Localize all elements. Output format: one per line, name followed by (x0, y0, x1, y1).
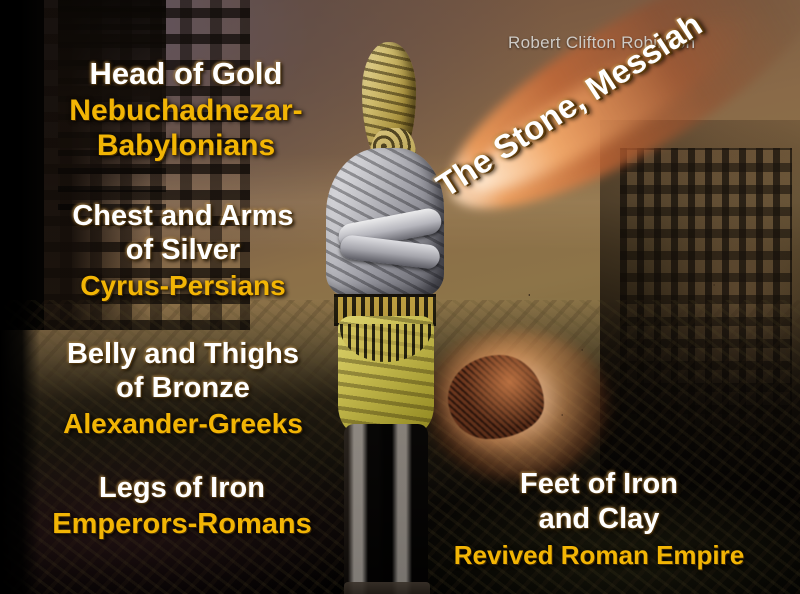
feet-kingdom: Revived Roman Empire (398, 540, 800, 571)
legs-iron-material: Legs of Iron (0, 472, 364, 505)
chest-silver-material-line1: Chest and Arms (0, 200, 366, 233)
belly-bronze-material-line2: of Bronze (0, 372, 366, 405)
belly-bronze-kingdom: Alexander-Greeks (0, 408, 366, 440)
label-group-feet-of-iron-and-clay: Feet of Iron and Clay Revived Roman Empi… (398, 468, 800, 571)
chest-silver-kingdom: Cyrus-Persians (0, 270, 366, 302)
feet-material-line2: and Clay (398, 503, 800, 536)
head-of-gold-material: Head of Gold (0, 56, 372, 92)
image-canvas: Robert Clifton Robinson The Stone, Messi… (0, 0, 800, 594)
label-group-legs-of-iron: Legs of Iron Emperors-Romans (0, 472, 364, 541)
statue-feet-iron-clay (344, 582, 430, 594)
belly-bronze-material-line1: Belly and Thighs (0, 338, 366, 371)
label-group-chest-and-arms-of-silver: Chest and Arms of Silver Cyrus-Persians (0, 200, 366, 302)
head-of-gold-kingdom-line2: Babylonians (0, 129, 372, 163)
meteor-debris (470, 240, 800, 490)
feet-material-line1: Feet of Iron (398, 468, 800, 501)
label-group-head-of-gold: Head of Gold Nebuchadnezar- Babylonians (0, 56, 372, 163)
legs-iron-kingdom: Emperors-Romans (0, 508, 364, 541)
label-group-belly-and-thighs-of-bronze: Belly and Thighs of Bronze Alexander-Gre… (0, 338, 366, 440)
head-of-gold-kingdom-line1: Nebuchadnezar- (0, 94, 372, 128)
chest-silver-material-line2: of Silver (0, 234, 366, 267)
